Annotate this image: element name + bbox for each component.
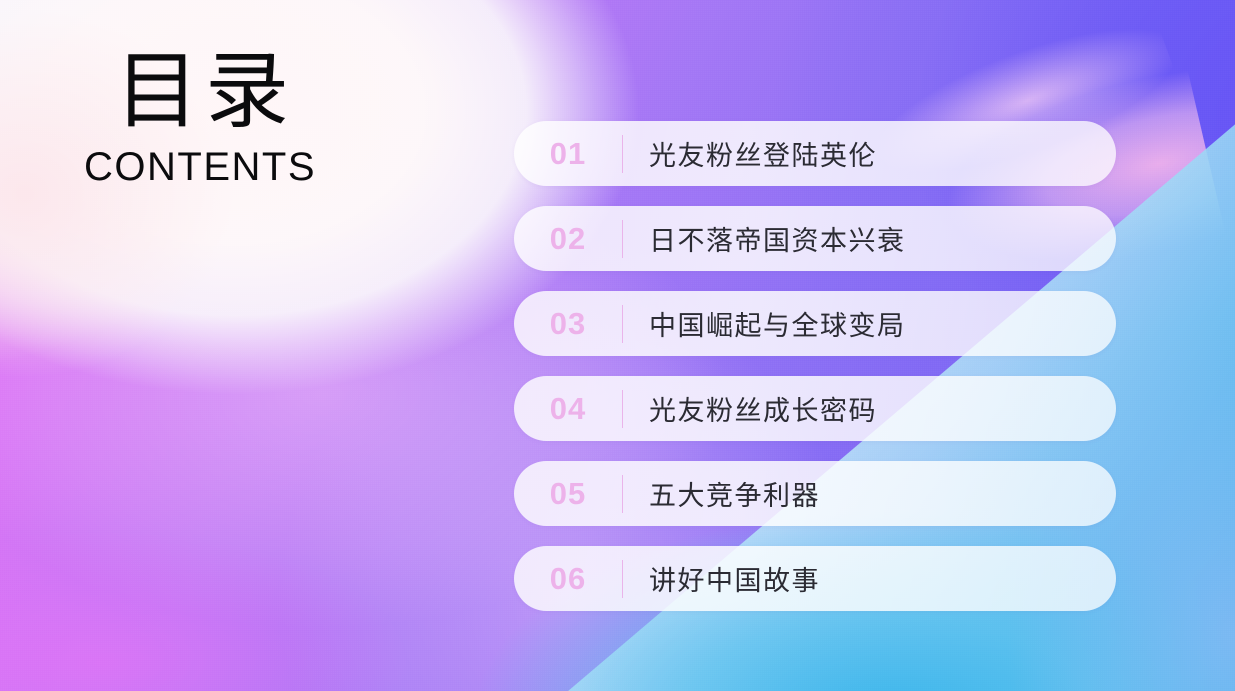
contents-item-number: 05: [514, 476, 622, 512]
contents-item-number: 04: [514, 391, 622, 427]
contents-item-label: 五大竞争利器: [623, 474, 820, 513]
contents-item-02[interactable]: 02 日不落帝国资本兴衰: [514, 206, 1116, 271]
contents-item-number: 06: [514, 561, 622, 597]
contents-item-01[interactable]: 01 光友粉丝登陆英伦: [514, 121, 1116, 186]
contents-item-label: 光友粉丝成长密码: [623, 389, 877, 428]
contents-item-label: 日不落帝国资本兴衰: [623, 219, 906, 258]
contents-list: 01 光友粉丝登陆英伦 02 日不落帝国资本兴衰 03 中国崛起与全球变局 04…: [514, 121, 1116, 611]
contents-item-05[interactable]: 05 五大竞争利器: [514, 461, 1116, 526]
slide-canvas: 目录 CONTENTS 01 光友粉丝登陆英伦 02 日不落帝国资本兴衰 03 …: [0, 0, 1235, 691]
page-title-chinese: 目录: [10, 48, 400, 139]
contents-item-06[interactable]: 06 讲好中国故事: [514, 546, 1116, 611]
contents-item-04[interactable]: 04 光友粉丝成长密码: [514, 376, 1116, 441]
contents-item-number: 01: [514, 136, 622, 172]
page-title-block: 目录 CONTENTS: [0, 48, 400, 189]
contents-item-number: 02: [514, 221, 622, 257]
contents-item-label: 中国崛起与全球变局: [623, 304, 906, 343]
contents-item-03[interactable]: 03 中国崛起与全球变局: [514, 291, 1116, 356]
contents-item-label: 讲好中国故事: [623, 559, 820, 598]
contents-item-label: 光友粉丝登陆英伦: [623, 134, 877, 173]
contents-item-number: 03: [514, 306, 622, 342]
page-title-english: CONTENTS: [0, 145, 400, 189]
